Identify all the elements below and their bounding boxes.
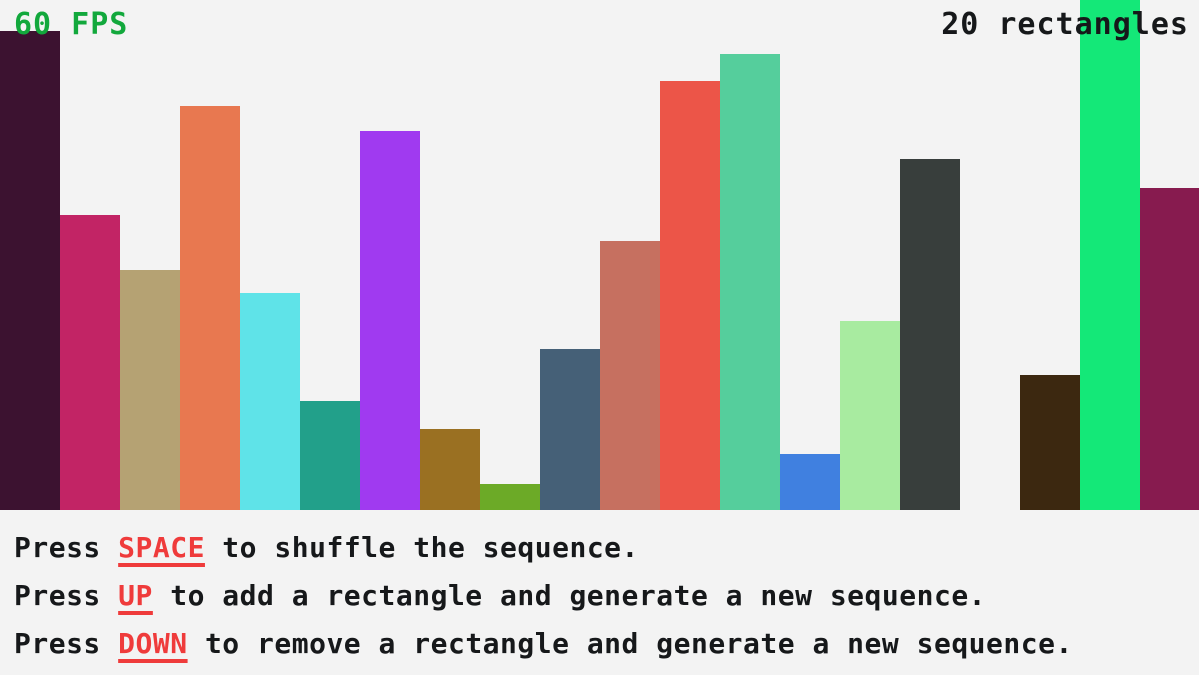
bar-rect-9 (480, 484, 540, 510)
bar-rect-6 (300, 401, 360, 510)
key-up[interactable]: UP (118, 579, 153, 612)
bar-rect-1 (0, 31, 60, 510)
rectangle-count-readout: 20 rectangles (941, 10, 1189, 40)
key-space[interactable]: SPACE (118, 531, 205, 564)
instruction-suffix: to shuffle the sequence. (205, 531, 639, 564)
instruction-prefix: Press (14, 531, 118, 564)
bar-rect-18 (1020, 375, 1080, 510)
bar-rect-8 (420, 429, 480, 510)
bar-rect-3 (120, 270, 180, 510)
instruction-line-3: Press DOWN to remove a rectangle and gen… (14, 620, 1199, 668)
bar-rect-19 (1080, 0, 1140, 510)
instruction-prefix: Press (14, 579, 118, 612)
fps-readout: 60 FPS (14, 10, 128, 40)
bar-rect-4 (180, 106, 240, 510)
instruction-line-1: Press SPACE to shuffle the sequence. (14, 524, 1199, 572)
instruction-suffix: to remove a rectangle and generate a new… (188, 627, 1073, 660)
bar-rect-10 (540, 349, 600, 510)
app-root: 60 FPS 20 rectangles Press SPACE to shuf… (0, 0, 1199, 675)
bar-rect-13 (720, 54, 780, 510)
instruction-prefix: Press (14, 627, 118, 660)
bar-rect-12 (660, 81, 720, 510)
instruction-line-2: Press UP to add a rectangle and generate… (14, 572, 1199, 620)
bar-rect-7 (360, 131, 420, 510)
key-down[interactable]: DOWN (118, 627, 187, 660)
bar-rect-5 (240, 293, 300, 510)
bar-rect-14 (780, 454, 840, 510)
bar-rect-15 (840, 321, 900, 510)
bar-rect-2 (60, 215, 120, 510)
bar-rect-11 (600, 241, 660, 510)
instructions-panel: Press SPACE to shuffle the sequence.Pres… (0, 510, 1199, 675)
bar-rect-16 (900, 159, 960, 510)
bar-rect-20 (1140, 188, 1199, 510)
instruction-suffix: to add a rectangle and generate a new se… (153, 579, 986, 612)
rectangle-chart (0, 0, 1199, 510)
